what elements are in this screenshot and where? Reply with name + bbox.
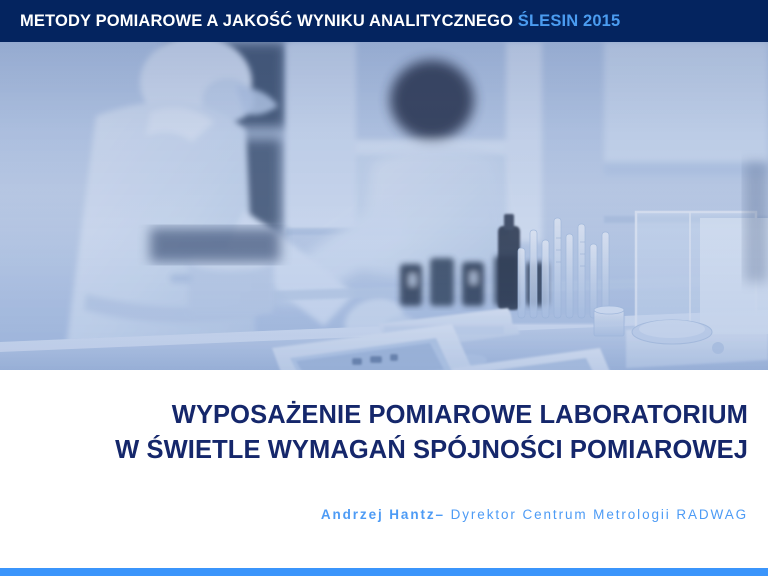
page-title-line-1: WYPOSAŻENIE POMIAROWE LABORATORIUM [0,398,748,433]
conference-title-main: METODY POMIAROWE A JAKOŚĆ WYNIKU ANALITY… [20,12,513,30]
conference-title-accent: ŚLESIN 2015 [518,12,621,30]
presentation-slide: METODY POMIAROWE A JAKOŚĆ WYNIKU ANALITY… [0,0,768,576]
page-title-line-2: W ŚWIETLE WYMAGAŃ SPÓJNOŚCI POMIAROWEJ [0,433,748,468]
laboratory-photo [0,42,768,370]
author-role: Dyrektor Centrum Metrologii RADWAG [445,507,748,522]
conference-title: METODY POMIAROWE A JAKOŚĆ WYNIKU ANALITY… [20,0,620,42]
photo-stage [0,42,768,370]
laboratory-photo-illustration [0,42,768,370]
header-band: METODY POMIAROWE A JAKOŚĆ WYNIKU ANALITY… [0,0,768,42]
page-title: WYPOSAŻENIE POMIAROWE LABORATORIUM W ŚWI… [0,398,748,468]
author-name: Andrzej Hantz– [321,507,445,522]
footer-accent-bar [0,568,768,576]
author-byline: Andrzej Hantz– Dyrektor Centrum Metrolog… [0,505,748,525]
